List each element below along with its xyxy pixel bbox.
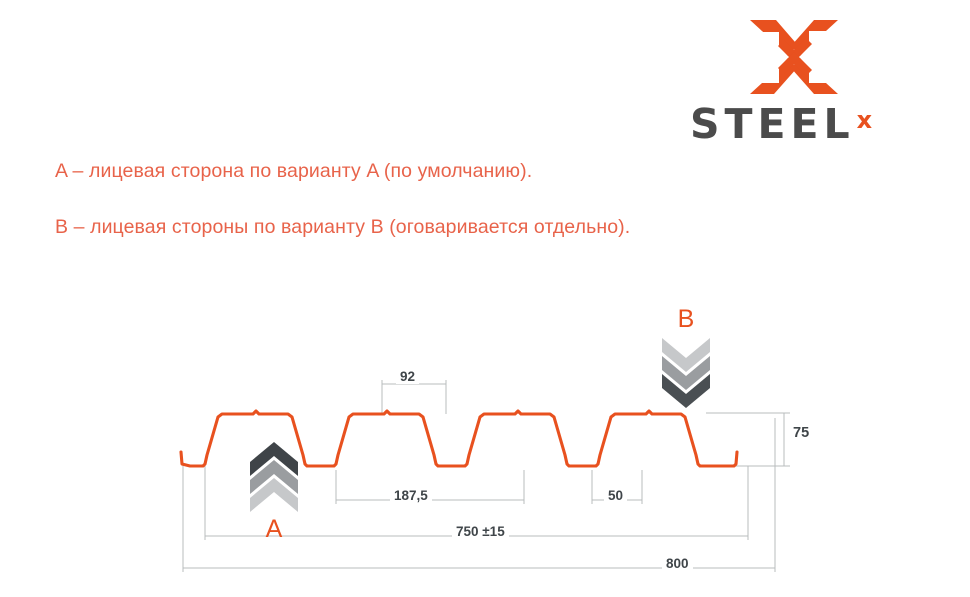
rib-pitch-dimension-label: 187,5	[390, 488, 432, 503]
side-a-marker-letter: A	[243, 515, 305, 544]
profile-technical-drawing	[0, 0, 970, 597]
side-b-marker-letter: B	[655, 305, 717, 334]
rib-top-width-dimension-label: 92	[396, 369, 419, 384]
side-b-marker: B	[655, 305, 717, 410]
useful-width-dimension-label: 750 ±15	[452, 524, 509, 539]
valley-width-dimension-label: 50	[604, 488, 627, 503]
profile-height-dimension-label: 75	[789, 425, 813, 441]
side-a-marker: A	[243, 440, 305, 540]
overall-width-dimension-label: 800	[662, 556, 693, 571]
